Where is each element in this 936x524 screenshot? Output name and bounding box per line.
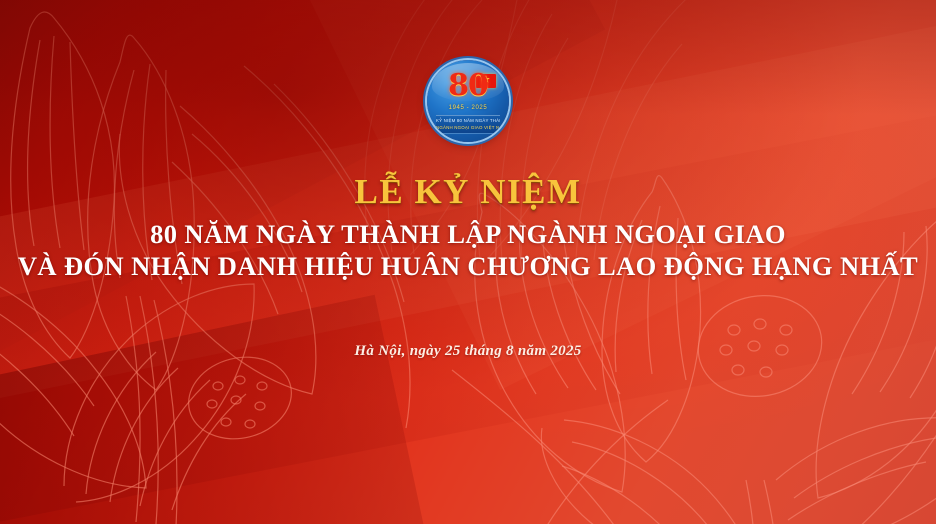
date-line: Hà Nội, ngày 25 tháng 8 năm 2025 <box>354 343 581 359</box>
badge-ribbon-line2: NGÀNH NGOẠI GIAO VIỆT NAM <box>436 123 500 130</box>
badge-number: 80 <box>427 71 509 101</box>
title-block: LỄ KỶ NIỆM 80 NĂM NGÀY THÀNH LẬP NGÀNH N… <box>0 172 936 282</box>
ceremony-title-slide: 80 1945 - 2025 KỶ NIỆM 80 NĂM NGÀY THÀNH… <box>0 0 936 524</box>
subtitle-line-1: 80 NĂM NGÀY THÀNH LẬP NGÀNH NGOẠI GIAO <box>0 218 936 250</box>
footer-date-block: Hà Nội, ngày 25 tháng 8 năm 2025 <box>0 342 936 360</box>
anniversary-badge-80-years: 80 1945 - 2025 KỶ NIỆM 80 NĂM NGÀY THÀNH… <box>427 60 509 142</box>
diagonal-band-bottom-left <box>0 295 425 524</box>
badge-ribbon-line1: KỶ NIỆM 80 NĂM NGÀY THÀNH LẬP <box>436 116 500 123</box>
badge-ribbon: KỶ NIỆM 80 NĂM NGÀY THÀNH LẬP NGÀNH NGOẠ… <box>436 115 500 134</box>
subtitle-line-2: VÀ ĐÓN NHẬN DANH HIỆU HUÂN CHƯƠNG LAO ĐỘ… <box>0 250 936 282</box>
page-title: LỄ KỶ NIỆM <box>0 172 936 212</box>
badge-years: 1945 - 2025 <box>427 105 509 111</box>
diagonal-band-dark <box>0 91 936 524</box>
